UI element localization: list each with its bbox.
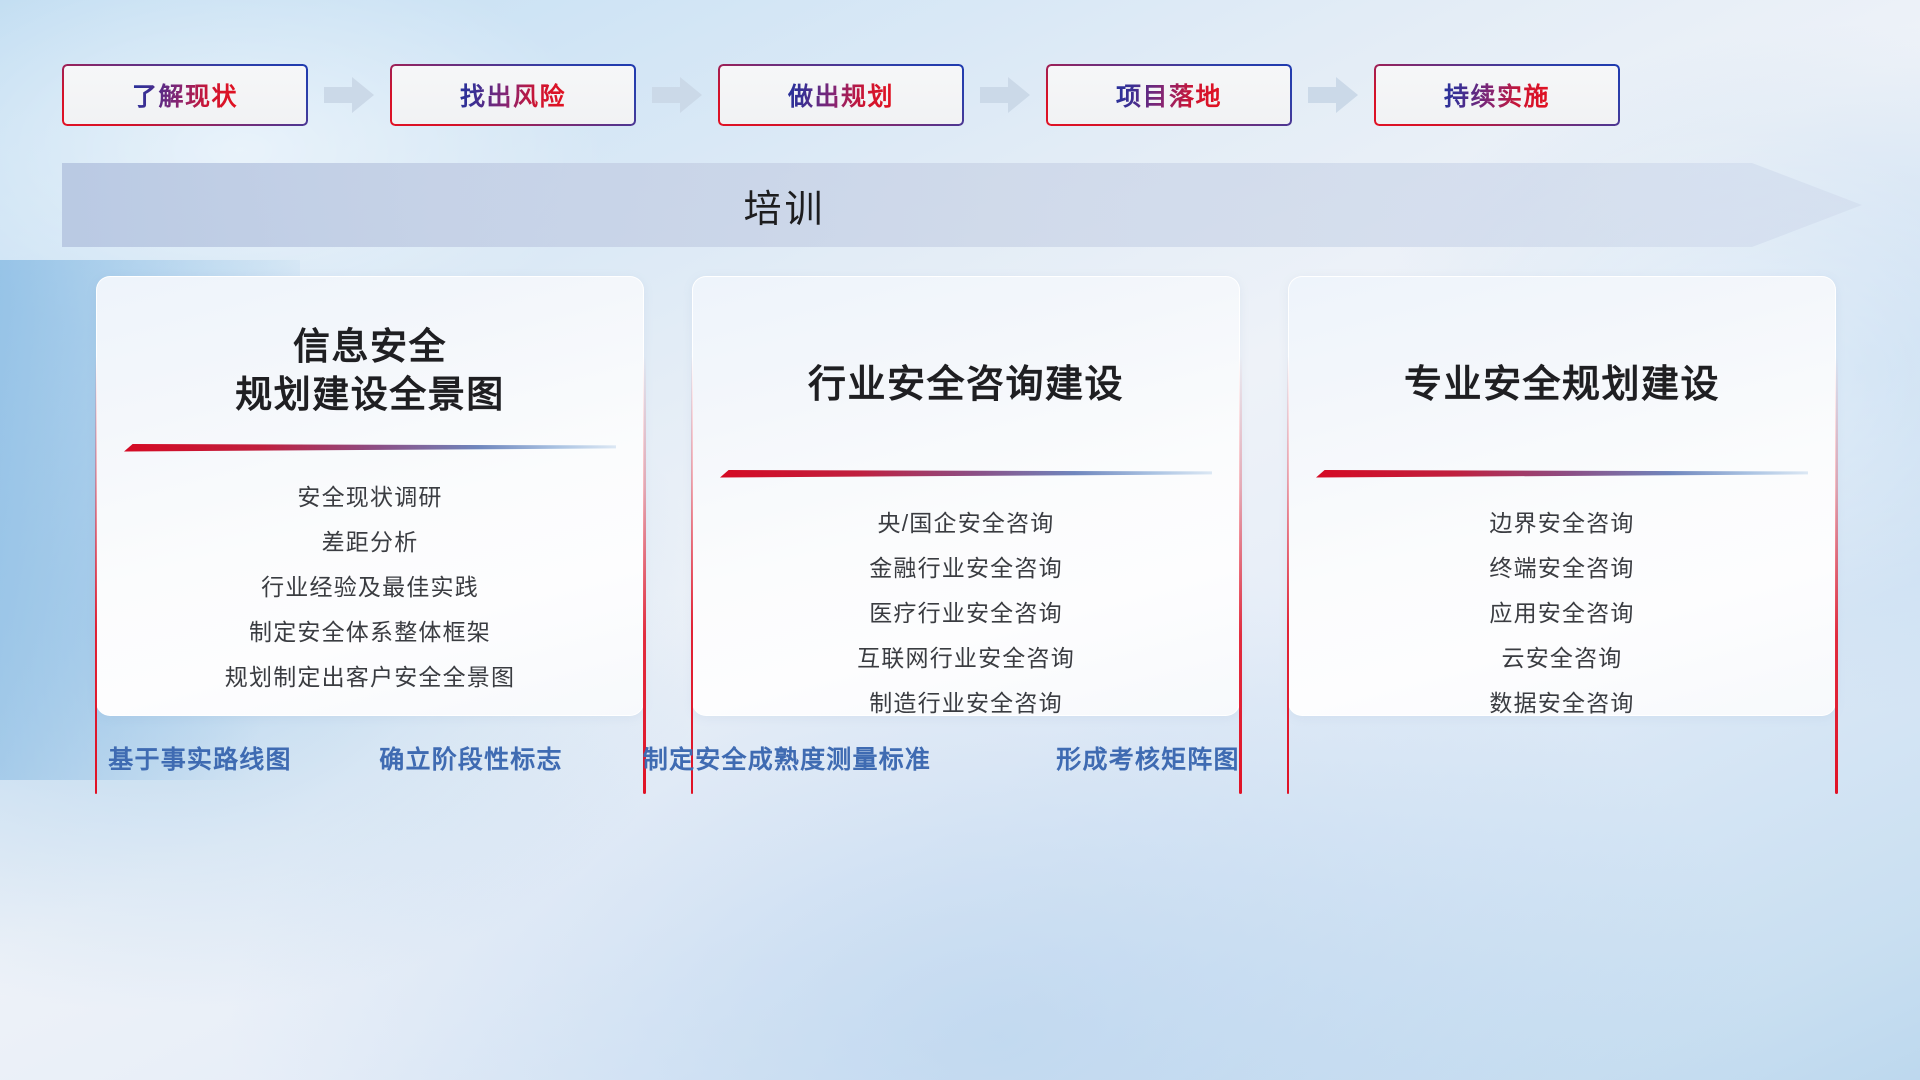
card-professional-security-planning[interactable]: 专业安全规划建设 xyxy=(1288,276,1836,716)
card-item-list: 安全现状调研 差距分析 行业经验及最佳实践 制定安全体系整体框架 规划制定出客户… xyxy=(97,475,643,700)
process-step-row: 了解现状 找出风险 做出规划 项目落地 xyxy=(62,63,1862,127)
list-item: 医疗行业安全咨询 xyxy=(693,591,1239,636)
card-title-line: 行业安全咨询建设 xyxy=(711,361,1221,410)
list-item: 差距分析 xyxy=(97,520,643,565)
footnote-label: 形成考核矩阵图 xyxy=(1056,740,1239,776)
step-box-5[interactable]: 持续实施 xyxy=(1374,64,1620,126)
step-label-3: 做出规划 xyxy=(788,77,894,113)
step-box-1[interactable]: 了解现状 xyxy=(62,64,308,126)
list-item: 安全现状调研 xyxy=(97,475,643,520)
slide-canvas: 了解现状 找出风险 做出规划 项目落地 xyxy=(0,0,1920,1080)
step-label-1: 了解现状 xyxy=(132,77,238,113)
step-box-4[interactable]: 项目落地 xyxy=(1046,64,1292,126)
card-title: 行业安全咨询建设 xyxy=(693,323,1239,410)
training-arrow-banner: 培训 xyxy=(62,163,1862,247)
step-label-5: 持续实施 xyxy=(1444,77,1550,113)
card-information-security-blueprint[interactable]: 信息安全 规划建设全景图 xyxy=(96,276,644,716)
list-item: 互联网行业安全咨询 xyxy=(693,636,1239,681)
footnote-label: 基于事实路线图 xyxy=(108,740,291,776)
list-item: 应用安全咨询 xyxy=(1289,591,1835,636)
card-divider xyxy=(124,441,616,457)
card-divider xyxy=(1316,467,1808,483)
list-item: 制定安全体系整体框架 xyxy=(97,610,643,655)
step-box-2[interactable]: 找出风险 xyxy=(390,64,636,126)
list-item: 行业经验及最佳实践 xyxy=(97,565,643,610)
chevron-right-arrow-icon xyxy=(978,75,1032,115)
list-item: 金融行业安全咨询 xyxy=(693,546,1239,591)
step-label-2: 找出风险 xyxy=(460,77,566,113)
list-item: 数据安全咨询 xyxy=(1289,681,1835,726)
step-box-3[interactable]: 做出规划 xyxy=(718,64,964,126)
card-accent-right xyxy=(1239,356,1242,794)
card-accent-right xyxy=(643,356,646,794)
footnote-label: 确立阶段性标志 xyxy=(379,740,562,776)
list-item: 央/国企安全咨询 xyxy=(693,501,1239,546)
step-label-4: 项目落地 xyxy=(1116,77,1222,113)
chevron-right-arrow-icon xyxy=(1306,75,1360,115)
list-item: 制造行业安全咨询 xyxy=(693,681,1239,726)
list-item: 终端安全咨询 xyxy=(1289,546,1835,591)
card-title-line: 信息安全 xyxy=(115,323,625,371)
list-item: 规划制定出客户安全全景图 xyxy=(97,655,643,700)
card-item-list: 央/国企安全咨询 金融行业安全咨询 医疗行业安全咨询 互联网行业安全咨询 制造行… xyxy=(693,501,1239,726)
list-item: 云安全咨询 xyxy=(1289,636,1835,681)
card-industry-security-consulting[interactable]: 行业安全咨询建设 xyxy=(692,276,1240,716)
footnote-row: 基于事实路线图 确立阶段性标志 制定安全成熟度测量标准 形成考核矩阵图 xyxy=(0,740,1920,784)
chevron-right-arrow-icon xyxy=(322,75,376,115)
card-item-list: 边界安全咨询 终端安全咨询 应用安全咨询 云安全咨询 数据安全咨询 xyxy=(1289,501,1835,726)
card-accent-right xyxy=(1835,356,1838,794)
card-row: 信息安全 规划建设全景图 xyxy=(96,276,1836,716)
card-title-line: 规划建设全景图 xyxy=(115,371,625,419)
card-title-line: 专业安全规划建设 xyxy=(1307,361,1817,410)
footnote-label: 制定安全成熟度测量标准 xyxy=(643,740,931,776)
card-divider xyxy=(720,467,1212,483)
chevron-right-arrow-icon xyxy=(650,75,704,115)
card-title: 信息安全 规划建设全景图 xyxy=(97,323,643,419)
training-banner-label: 培训 xyxy=(62,163,1507,247)
card-title: 专业安全规划建设 xyxy=(1289,323,1835,410)
list-item: 边界安全咨询 xyxy=(1289,501,1835,546)
